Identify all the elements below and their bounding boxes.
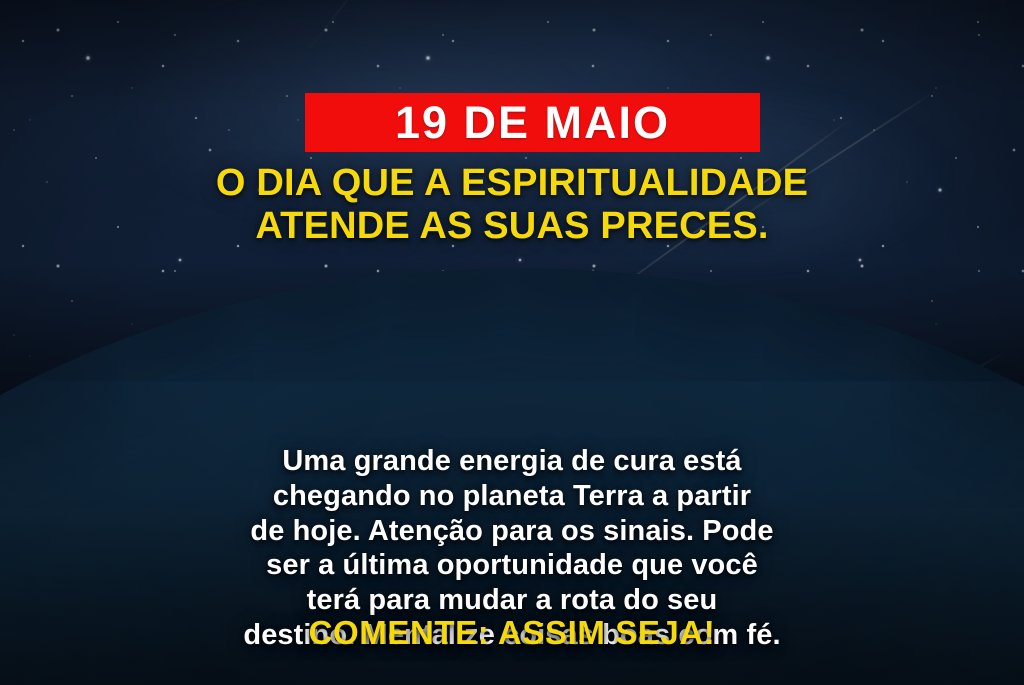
call-to-action: COMENTE: ASSIM SEJA! — [0, 616, 1024, 649]
headline: O DIA QUE A ESPIRITUALIDADE ATENDE AS SU… — [0, 162, 1024, 249]
body-line-1: Uma grande energia de cura está — [50, 444, 974, 479]
cta-label: COMENTE: ASSIM SEJA! — [309, 614, 716, 651]
poster-content: 19 DE MAIO O DIA QUE A ESPIRITUALIDADE A… — [0, 0, 1024, 685]
body-line-3: de hoje. Atenção para os sinais. Pode — [50, 514, 974, 549]
date-banner: 19 DE MAIO — [305, 93, 760, 152]
body-line-5: terá para mudar a rota do seu — [50, 583, 974, 618]
date-banner-label: 19 DE MAIO — [395, 100, 670, 145]
body-line-2: chegando no planeta Terra a partir — [50, 479, 974, 514]
headline-line-1: O DIA QUE A ESPIRITUALIDADE — [40, 162, 984, 205]
poster-canvas: 19 DE MAIO O DIA QUE A ESPIRITUALIDADE A… — [0, 0, 1024, 685]
headline-line-2: ATENDE AS SUAS PRECES. — [40, 205, 984, 248]
body-line-4: ser a última oportunidade que você — [50, 548, 974, 583]
